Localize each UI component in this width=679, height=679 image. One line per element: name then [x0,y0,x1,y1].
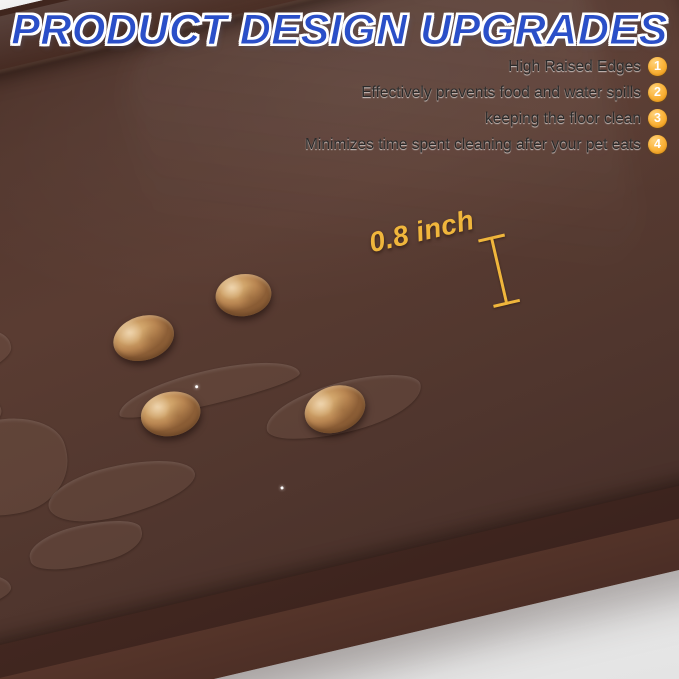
number-badge-2: 2 [648,83,667,102]
number-badge-4: 4 [648,135,667,154]
feature-text: Effectively prevents food and water spil… [361,84,641,102]
number-badge-3: 3 [648,109,667,128]
feature-text: Minimizes time spent cleaning after your… [305,136,641,154]
list-item: High Raised Edges 1 [508,55,667,78]
dimension-vertical-bar [490,237,508,304]
number-badge-1: 1 [648,57,667,76]
feature-list: High Raised Edges 1 Effectively prevents… [67,55,667,156]
product-marketing-image: 0.8 inch PRODUCT DESIGN UPGRADES High Ra… [0,0,679,679]
list-item: Effectively prevents food and water spil… [361,81,667,104]
page-title: PRODUCT DESIGN UPGRADES [0,6,679,55]
feature-text: keeping the floor clean [485,110,641,128]
list-item: Minimizes time spent cleaning after your… [305,133,667,156]
list-item: keeping the floor clean 3 [485,107,667,130]
feature-text: High Raised Edges [508,58,641,76]
